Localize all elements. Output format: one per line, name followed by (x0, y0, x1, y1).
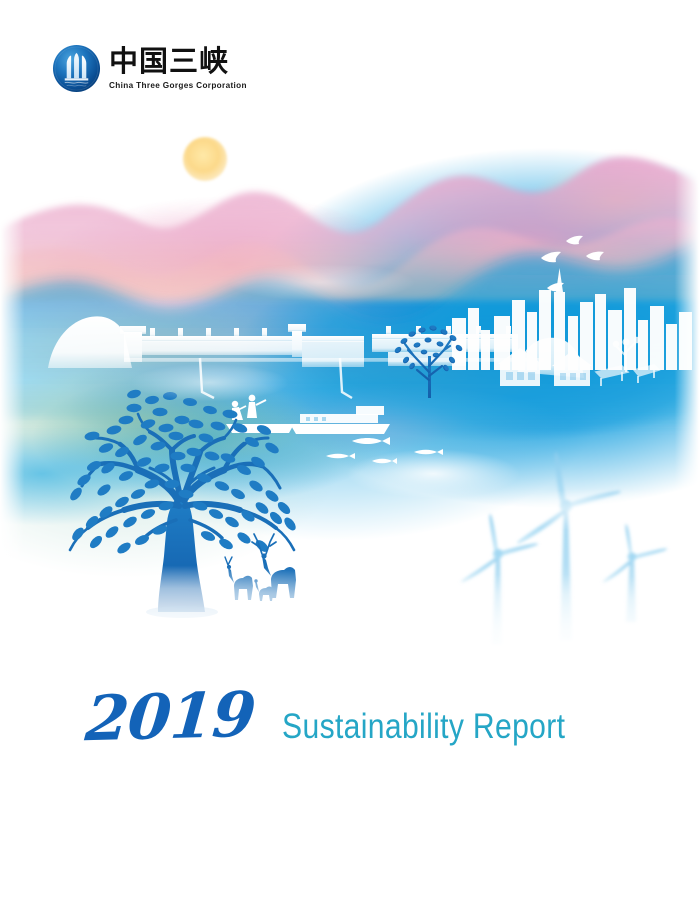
page-title: Sustainability Report (282, 709, 565, 744)
report-cover-page: 中国三峡 China Three Gorges Corporation 2019… (0, 0, 699, 911)
wind-turbine-left (461, 514, 538, 644)
corporate-logo: 中国三峡 China Three Gorges Corporation (52, 44, 247, 93)
logo-chinese-name: 中国三峡 (109, 47, 247, 76)
wind-turbines (461, 452, 667, 644)
china-three-gorges-emblem-icon (52, 44, 101, 93)
logo-english-name: China Three Gorges Corporation (109, 82, 247, 90)
cover-title-block: 2019 Sustainability Report (0, 686, 699, 748)
small-tree (394, 325, 463, 398)
foreground-nature (0, 0, 699, 911)
big-tree (68, 388, 298, 618)
report-year: 2019 (84, 684, 258, 750)
wind-turbine-right (603, 524, 667, 622)
logo-text-block: 中国三峡 China Three Gorges Corporation (109, 47, 247, 90)
